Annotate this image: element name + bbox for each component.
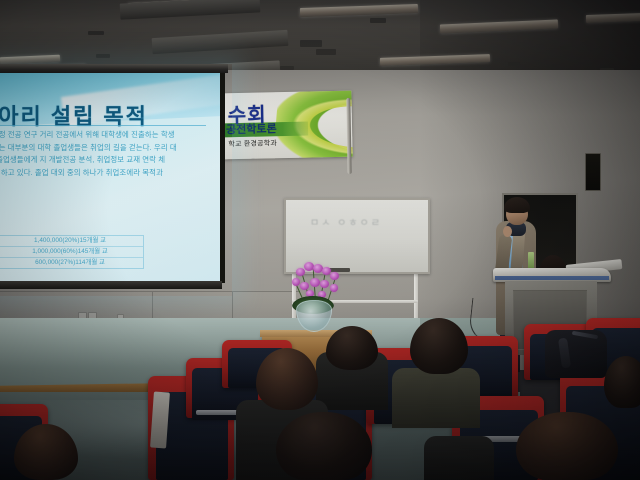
ceiling-vent	[300, 40, 322, 47]
slide-body-line: 대학교는 대부분의 대학 졸업생들은 취업의 길을 걷는다. 우리 대	[0, 144, 204, 152]
orchid-bloom	[330, 284, 338, 292]
slide-title-rule	[0, 125, 206, 126]
orchid-bloom	[292, 278, 300, 286]
orchid-bloom	[330, 272, 339, 280]
audience-head	[516, 412, 618, 480]
audience-head	[276, 412, 372, 480]
wall-speaker-icon	[585, 153, 601, 191]
projection-screen: 동아리 설립 목적 졸업예정 전공 연구 거리 전공에서 위해 대학생에 진출하…	[0, 64, 228, 292]
auditorium-photo: 수회 공전학토론 학교 환경공학과 동아리 설립 목적 졸업예정 전공 연구 거…	[0, 0, 640, 480]
orchid-bloom	[310, 278, 320, 287]
audience-head	[410, 318, 468, 374]
speaker-hand	[503, 226, 512, 237]
screen-roller-bar	[0, 64, 228, 73]
audience-body	[424, 436, 494, 480]
event-banner: 수회 공전학토론 학교 환경공학과	[221, 91, 352, 160]
screen-right-edge	[220, 73, 225, 283]
audience-head	[256, 348, 318, 410]
orchid-bloom	[320, 280, 329, 288]
screen-bottom-bar	[0, 281, 222, 289]
slide-body-line: 행 및 졸업생들에게 지 개발전공 분석, 취업정보 교재 연락 체	[0, 156, 204, 164]
whiteboard-writing: ㅁㅅ ㅇㅎㅇㄹ	[310, 214, 408, 228]
screen-surface: 동아리 설립 목적 졸업예정 전공 연구 거리 전공에서 위해 대학생에 진출하…	[0, 73, 220, 281]
slide-table-row: 600,000(27%)114개월 교	[0, 258, 143, 268]
slide-body-line: 졸업예정 전공 연구 거리 전공에서 위해 대학생에 진출하는 학생	[0, 131, 204, 139]
banner-org-label: 학교 환경공학과	[228, 138, 277, 149]
ceiling-vent	[96, 54, 110, 58]
slide-table-row: 1,400,000(20%)15개월 교	[0, 236, 143, 247]
slide-body-line: 로 운영하고 있다. 졸업 대외 중의 하나가 취업조에라 목적과	[0, 169, 204, 177]
slide-title: 동아리 설립 목적	[0, 99, 208, 131]
speaker-hair	[504, 197, 530, 213]
slide-table-row: 1,000,000(60%)145개월 교	[0, 247, 143, 258]
slide-table: 1,400,000(20%)15개월 교 1,000,000(60%)145개월…	[0, 235, 144, 269]
orchid-bloom	[300, 282, 309, 290]
ceiling-vent	[88, 31, 104, 35]
slide-body-text: 졸업예정 전공 연구 거리 전공에서 위해 대학생에 진출하는 학생 대학교는 …	[0, 131, 204, 181]
ceiling-vent	[560, 46, 572, 50]
banner-subtitle: 공전학토론	[226, 122, 277, 137]
audience-head	[326, 326, 378, 370]
podium-accent-stripe	[495, 276, 609, 280]
audience-body	[392, 368, 480, 428]
ceiling-vent	[316, 49, 336, 55]
ceiling-vent	[508, 62, 520, 66]
ceiling-vent	[370, 18, 386, 23]
orchid-bloom	[296, 268, 305, 276]
